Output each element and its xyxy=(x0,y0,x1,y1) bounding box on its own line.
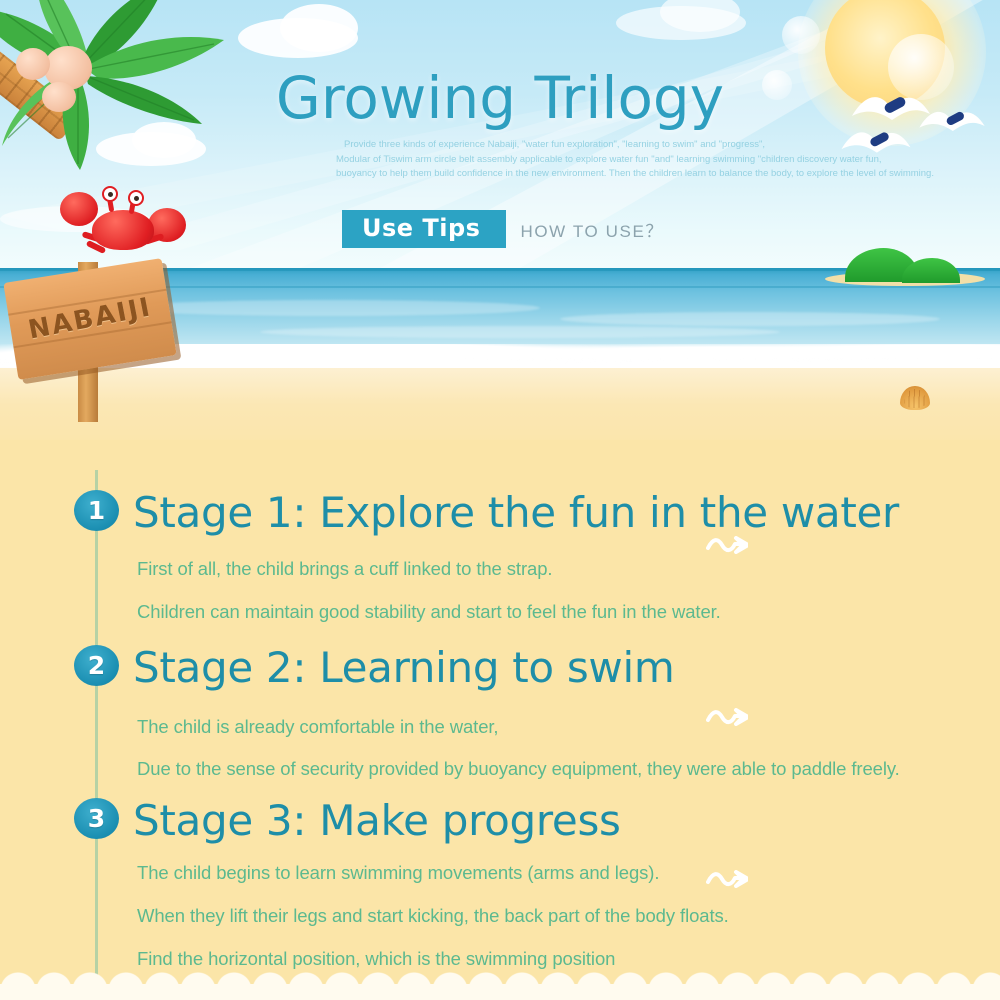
stage-number-badge: 2 xyxy=(74,645,119,686)
stage-number-badge: 1 xyxy=(74,490,119,531)
poster-page: NABAIJI Growing Trilogy Provide three ki… xyxy=(0,0,1000,1000)
stage-body-line: The child begins to learn swimming movem… xyxy=(137,862,659,884)
stage-body-line: First of all, the child brings a cuff li… xyxy=(137,558,552,580)
stage-list: 1 Stage 1: Explore the fun in the water … xyxy=(0,0,1000,1000)
stage-title: Stage 2: Learning to swim xyxy=(133,643,674,692)
stage-body-line: When they lift their legs and start kick… xyxy=(137,905,729,927)
stage-body-line: Children can maintain good stability and… xyxy=(137,601,721,623)
stage-title: Stage 3: Make progress xyxy=(133,796,621,845)
wave-squiggle-icon xyxy=(706,870,748,888)
wave-squiggle-icon xyxy=(706,708,748,726)
bottom-edge-band xyxy=(0,984,1000,1000)
stage-number-badge: 3 xyxy=(74,798,119,839)
stage-body-line: The child is already comfortable in the … xyxy=(137,716,498,738)
wave-squiggle-icon xyxy=(706,536,748,554)
stage-body-line: Due to the sense of security provided by… xyxy=(137,758,900,780)
stage-title: Stage 1: Explore the fun in the water xyxy=(133,488,899,537)
